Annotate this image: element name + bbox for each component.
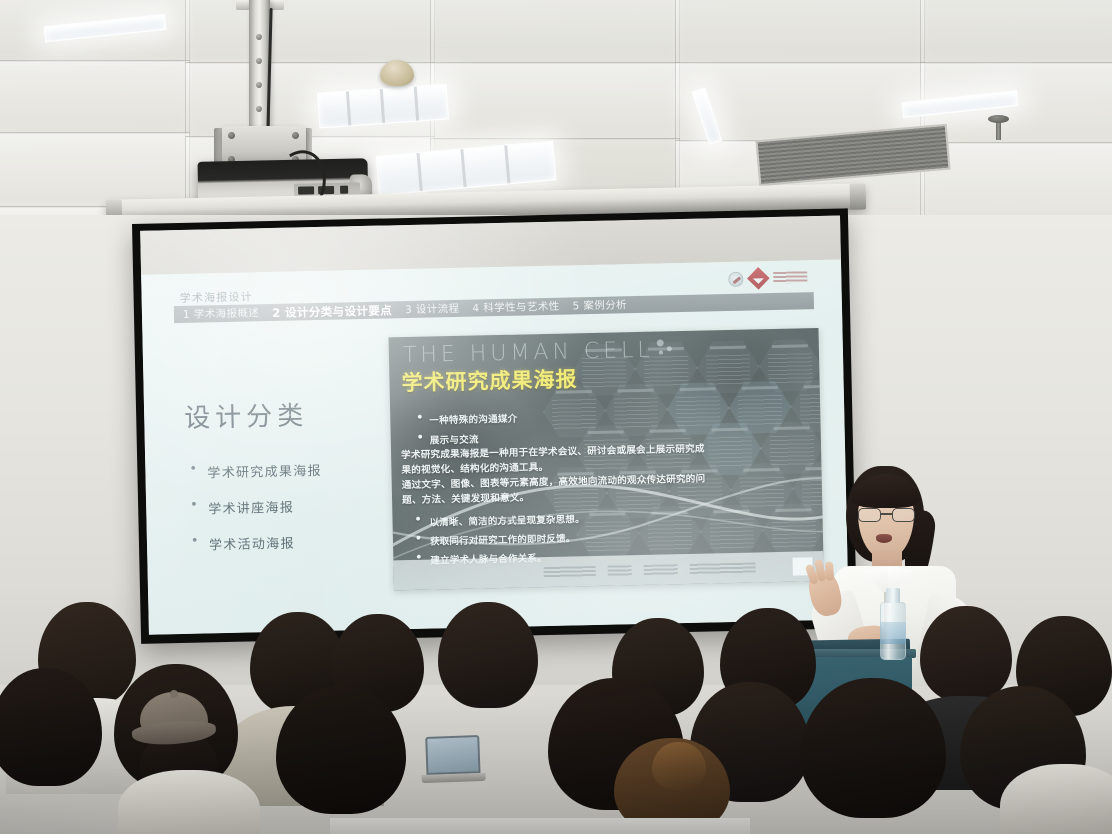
audience-head <box>276 686 406 814</box>
hair-bun <box>652 742 706 790</box>
footer-logo-icon <box>690 562 756 574</box>
audience-head <box>920 606 1012 702</box>
list-item: 一种特殊的沟通媒介 <box>412 411 517 427</box>
slide-section-heading: 设计分类 <box>184 394 385 435</box>
audience-desk <box>330 818 750 834</box>
sprinkler-head <box>996 120 1001 140</box>
embedded-poster-image: THE HUMAN CELL 学术研究成果海报 一种特殊的沟通媒介 展示与交流 … <box>389 328 824 590</box>
audience-head <box>800 678 946 818</box>
audience-laptop <box>425 735 481 783</box>
nav-item-3[interactable]: 3 设计流程 <box>405 301 460 317</box>
ceiling-mounted-projector <box>192 0 382 215</box>
list-item: 学术活动海报 <box>187 531 387 554</box>
poster-overlay-title: 学术研究成果海报 <box>401 363 578 397</box>
brand-wordmark-icon <box>773 271 807 284</box>
projection-screen: 学术海报设计 1 学术海报概述 2 设计分类与设计要点 3 设计流程 4 科学性… <box>132 208 857 644</box>
screen-surface: 学术海报设计 1 学术海报概述 2 设计分类与设计要点 3 设计流程 4 科学性… <box>140 216 849 635</box>
slide-category-list: 学术研究成果海报 学术讲座海报 学术活动海报 <box>185 459 387 554</box>
nav-item-1[interactable]: 1 学术海报概述 <box>183 305 260 322</box>
smoke-detector <box>380 60 414 86</box>
poster-swoosh-graphic <box>391 463 823 564</box>
list-item: 学术讲座海报 <box>186 495 386 518</box>
slide-left-panel: 设计分类 学术研究成果海报 学术讲座海报 学术活动海报 <box>184 394 388 571</box>
list-item: 展示与交流 <box>413 431 518 447</box>
nav-item-2[interactable]: 2 设计分类与设计要点 <box>272 302 392 321</box>
audience <box>0 584 1112 834</box>
slide-title: 学术海报设计 <box>179 288 253 306</box>
baseball-cap <box>132 692 216 752</box>
nav-item-4[interactable]: 4 科学性与艺术性 <box>472 299 559 316</box>
footer-logo-icon <box>644 564 678 576</box>
university-seal-icon <box>728 271 743 286</box>
footer-logo-icon <box>544 565 596 577</box>
eyeglasses <box>858 508 916 523</box>
audience-shoulders <box>118 770 260 834</box>
lecture-hall-scene: 学术海报设计 1 学术海报概述 2 设计分类与设计要点 3 设计流程 4 科学性… <box>0 0 1112 834</box>
nav-item-5[interactable]: 5 案例分析 <box>572 297 627 313</box>
list-item: 学术研究成果海报 <box>185 459 385 482</box>
slide-logos <box>728 269 807 287</box>
footer-logo-icon <box>608 565 632 577</box>
presentation-slide: 学术海报设计 1 学术海报概述 2 设计分类与设计要点 3 设计流程 4 科学性… <box>140 216 849 635</box>
audience-head <box>438 602 538 708</box>
